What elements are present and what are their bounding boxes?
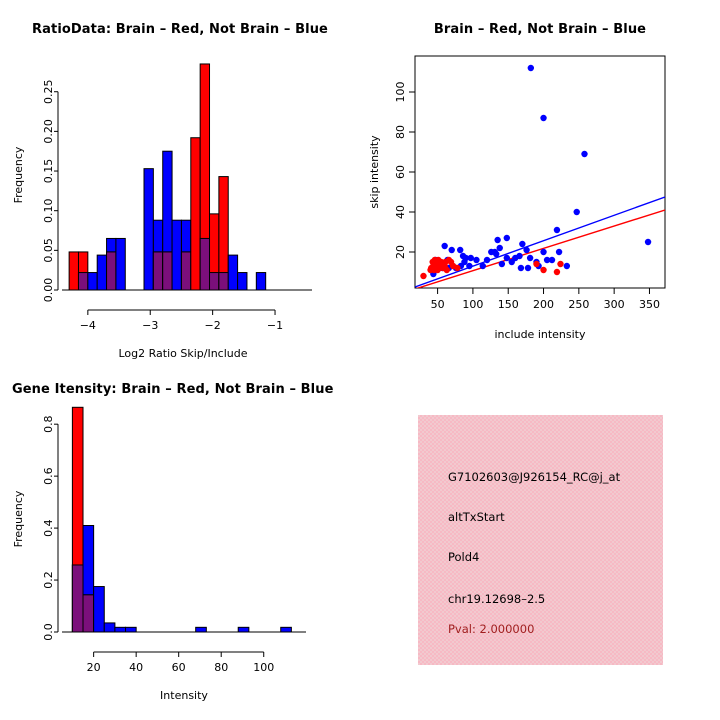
y-tick-label: 20 [394,245,407,259]
scatter-point [499,261,505,267]
y-tick-label: 0.2 [42,571,55,589]
hist-bar-overlap [72,565,83,632]
y-tick-label: 40 [394,205,407,219]
hist-bar-blue [97,255,106,290]
x-tick-label: 300 [604,298,625,311]
scatter-point [533,261,539,267]
scatter-point [564,263,570,269]
hist-bar-overlap [219,273,228,290]
scatter-point [525,265,531,271]
hist-bar-overlap [163,252,172,290]
scatter-point [504,235,510,241]
scatter-group: 20406080100skip intensity501001502002503… [368,56,665,341]
y-tick-label: 100 [394,82,407,103]
hist-bar-overlap [181,252,190,290]
x-axis-label: Log2 Ratio Skip/Include [118,347,247,360]
x-tick-label: 60 [172,661,186,674]
hist-bar-blue [256,273,265,290]
hist-bar-overlap [210,273,219,290]
hist-bar-red [191,138,200,290]
y-axis-label: Frequency [12,490,25,547]
hist-bar-overlap [83,595,94,632]
scatter-point [581,151,587,157]
scatter-point [519,241,525,247]
plot-frame [415,56,665,288]
x-tick-label: 150 [498,298,519,311]
scatter-point [454,265,460,271]
hist-bar-blue [94,587,105,632]
ratio-histogram-plot: 0.000.050.100.150.200.25Frequency−4−3−2−… [0,20,360,360]
scatter-point [554,269,560,275]
scatter-point [574,209,580,215]
scatter-point [420,273,426,279]
ratio-hist-group: 0.000.050.100.150.200.25Frequency−4−3−2−… [12,64,312,360]
y-axis-label: skip intensity [368,135,381,209]
event-type-text: altTxStart [448,510,505,524]
scatter-point [556,249,562,255]
x-tick-label: 100 [462,298,483,311]
probe-id-text: G7102603@J926154_RC@j_at [448,470,620,484]
y-tick-label: 0.0 [42,623,55,641]
x-tick-label: 20 [87,661,101,674]
hist-bar-blue [228,255,237,290]
scatter-point [523,247,529,253]
y-tick-label: 0.4 [42,519,55,537]
scatter-point [554,227,560,233]
scatter-inner [415,65,665,289]
hist-bar-blue [238,627,249,632]
gene-symbol-text: Pold4 [448,550,479,564]
hist-bar-blue [172,220,181,290]
y-tick-label: 80 [394,125,407,139]
scatter-point [434,267,440,273]
scatter-point [449,247,455,253]
scatter-point [444,267,450,273]
hist-bar-overlap [153,252,162,290]
y-axis-label: Frequency [12,146,25,203]
hist-bar-blue [116,238,125,290]
hist-bar-blue [126,627,137,632]
scatter-point [540,115,546,121]
y-tick-label: 0.20 [42,119,55,143]
hist-bar-blue [144,169,153,290]
fit-line [415,197,665,287]
scatter-point [457,247,463,253]
hist-bar-overlap [78,273,87,290]
locus-text: chr19.12698–2.5 [448,592,545,606]
figure-canvas: RatioData: Brain – Red, Not Brain – Blue… [0,0,720,720]
hist-bar-overlap [107,252,116,290]
y-tick-label: 0.15 [42,159,55,184]
x-tick-label: 40 [129,661,143,674]
y-tick-label: 0.8 [42,415,55,433]
panel-ratio-histogram: RatioData: Brain – Red, Not Brain – Blue… [0,0,360,360]
scatter-point [497,245,503,251]
hist-bar-blue [238,273,247,290]
hist-bar-blue [104,623,115,632]
scatter-point [488,249,494,255]
scatter-point [473,257,479,263]
scatter-point [540,267,546,273]
scatter-point [527,255,533,261]
pval-text: Pval: 2.000000 [448,622,534,636]
gene-histogram-plot: 0.00.20.40.60.8Frequency20406080100Inten… [0,380,360,720]
x-tick-label: −1 [267,319,283,332]
x-tick-label: 200 [533,298,554,311]
hist-bar-overlap [200,238,209,290]
scatter-point [540,249,546,255]
scatter-point [484,257,490,263]
x-tick-label: 80 [214,661,228,674]
probe-info-box: G7102603@J926154_RC@j_at altTxStart Pold… [418,415,663,665]
y-tick-label: 0.6 [42,467,55,485]
x-tick-label: 350 [639,298,660,311]
x-axis-label: Intensity [160,689,208,702]
panel-probe-info: G7102603@J926154_RC@j_at altTxStart Pold… [360,360,720,720]
panel-gene-histogram: Gene Itensity: Brain – Red, Not Brain – … [0,360,360,720]
y-tick-label: 0.00 [42,278,55,303]
y-tick-label: 0.05 [42,238,55,263]
gene-hist-group: 0.00.20.40.60.8Frequency20406080100Inten… [12,407,306,702]
scatter-point [504,255,510,261]
hist-bar-blue [281,627,292,632]
scatter-point [429,259,435,265]
scatter-point [494,237,500,243]
scatter-point [509,259,515,265]
hist-bar-blue [115,627,126,632]
x-tick-label: 50 [431,298,445,311]
y-tick-label: 0.25 [42,79,55,104]
y-tick-label: 0.10 [42,198,55,223]
scatter-point [645,239,651,245]
x-tick-label: 250 [568,298,589,311]
intensity-scatter-plot: 20406080100skip intensity501001502002503… [360,20,720,360]
scatter-point [528,65,534,71]
y-tick-label: 60 [394,165,407,179]
hist-bar-blue [196,627,207,632]
scatter-point [480,263,486,269]
x-tick-label: −3 [142,319,158,332]
scatter-point [518,265,524,271]
scatter-point [466,263,472,269]
scatter-point [557,261,563,267]
scatter-point [442,259,448,265]
panel-intensity-scatter: Brain – Red, Not Brain – Blue 2040608010… [360,0,720,360]
scatter-point [549,257,555,263]
x-tick-label: −2 [205,319,221,332]
scatter-point [468,255,474,261]
hist-bar-red [69,252,78,290]
x-tick-label: −4 [80,319,96,332]
x-axis-label: include intensity [494,328,586,341]
x-tick-label: 100 [253,661,274,674]
hist-bar-blue [88,273,97,290]
scatter-point [441,243,447,249]
scatter-point [516,253,522,259]
